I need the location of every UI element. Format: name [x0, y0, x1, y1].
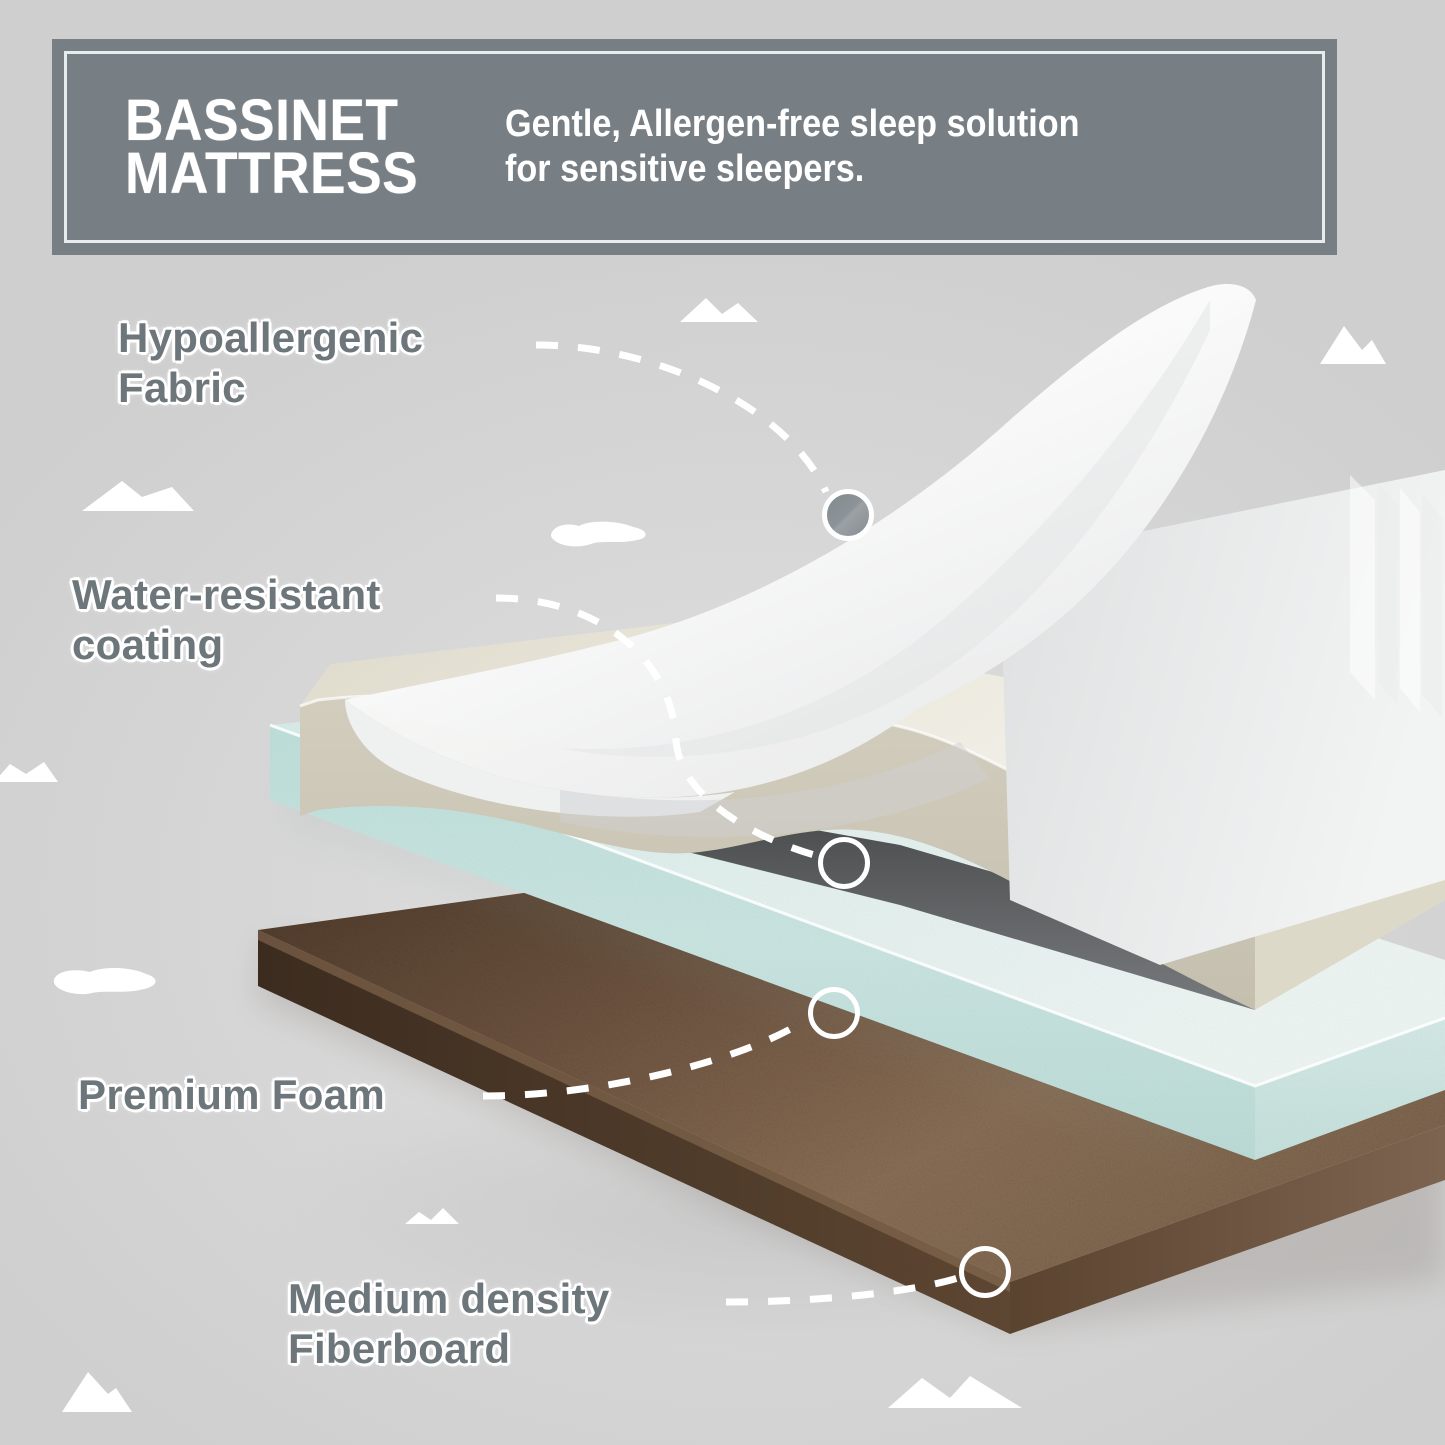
- fabric-rib-texture: [1350, 475, 1442, 718]
- callout-label-water-resistant: Water-resistant coating: [72, 570, 381, 669]
- callout-dot-fiberboard[interactable]: [959, 1246, 1011, 1298]
- callout-dot-hypoallergenic[interactable]: [822, 489, 874, 541]
- callout-label-fiberboard: Medium density Fiberboard: [288, 1274, 610, 1373]
- header-inner-frame: BASSINET MATTRESS Gentle, Allergen-free …: [64, 51, 1325, 243]
- product-infographic: BASSINET MATTRESS Gentle, Allergen-free …: [0, 0, 1445, 1445]
- callout-label-hypoallergenic: Hypoallergenic Fabric: [118, 313, 423, 412]
- callout-dot-premium-foam[interactable]: [808, 987, 860, 1039]
- callout-label-premium-foam: Premium Foam: [78, 1070, 385, 1120]
- callout-dot-water-resistant[interactable]: [818, 837, 870, 889]
- page-title: BASSINET MATTRESS: [125, 94, 465, 201]
- page-subtitle: Gentle, Allergen-free sleep solution for…: [505, 102, 1240, 192]
- header-banner: BASSINET MATTRESS Gentle, Allergen-free …: [52, 39, 1337, 255]
